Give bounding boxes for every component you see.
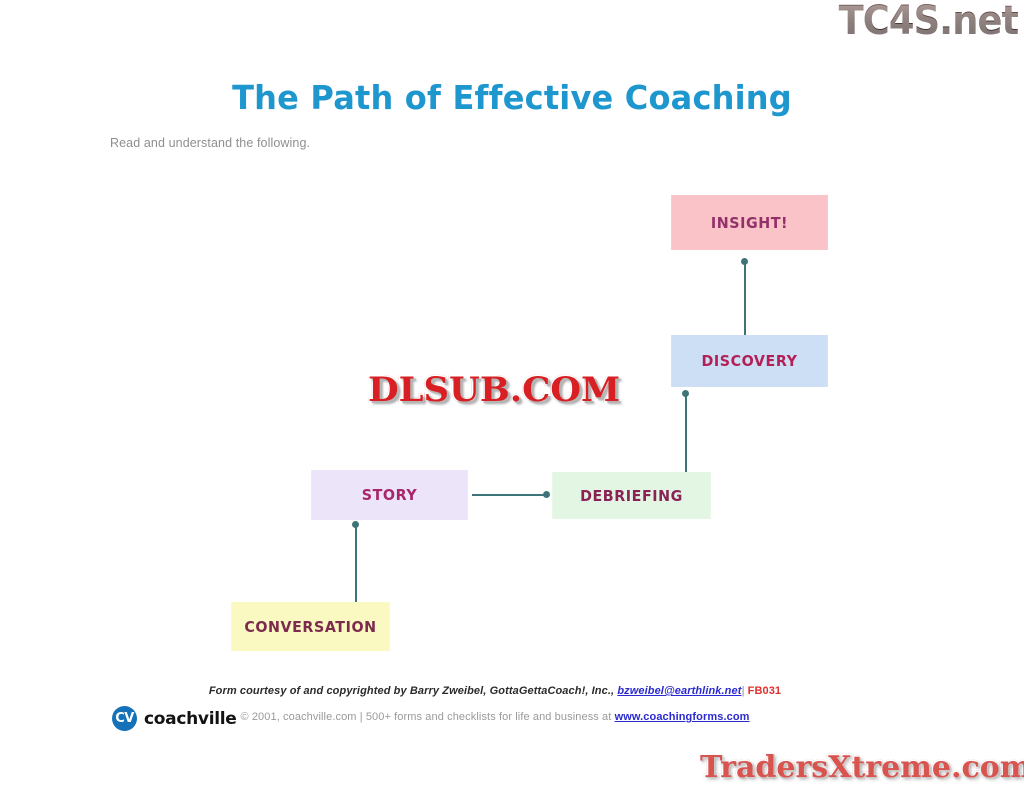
watermark-middle-text: DLSUB.COM	[368, 370, 620, 410]
page-canvas: TC4S.net The Path of Effective Coaching …	[0, 0, 1024, 791]
flow-node-insight: INSIGHT!	[671, 195, 828, 250]
instruction-text: Read and understand the following.	[110, 136, 310, 150]
footer-credit-prefix: Form courtesy of and copyrighted by Barr…	[209, 685, 617, 697]
footer-copyright-prefix: © 2001, coachville.com | 500+ forms and …	[240, 711, 614, 723]
connector-dot-debriefing-to-discovery	[682, 390, 689, 397]
watermark-middle: DLSUB.COM	[368, 370, 620, 410]
watermark-bottom-right: TradersXtreme.com	[700, 750, 1024, 785]
footer-form-code: FB031	[748, 685, 782, 697]
coachville-logo-icon: CV	[112, 706, 137, 731]
page-title: The Path of Effective Coaching	[15, 78, 1008, 117]
connector-dot-story-to-debriefing	[543, 491, 550, 498]
watermark-bottom-right-text: TradersXtreme.com	[700, 750, 1024, 785]
connector-debriefing-to-discovery	[685, 393, 687, 472]
footer-email-link[interactable]: bzweibel@earthlink.net	[617, 685, 741, 697]
flow-node-discovery: DISCOVERY	[671, 335, 828, 387]
connector-dot-discovery-to-insight	[741, 258, 748, 265]
flow-node-conversation: CONVERSATION	[231, 602, 390, 651]
coachville-logo-text: coachville	[144, 709, 237, 729]
footer-separator: |	[742, 685, 745, 697]
connector-story-to-debriefing	[472, 494, 549, 496]
connector-dot-conversation-to-story	[352, 521, 359, 528]
flow-node-debriefing: DEBRIEFING	[552, 472, 711, 519]
flow-node-story: STORY	[311, 470, 468, 520]
watermark-top-right: TC4S.net	[838, 0, 1018, 44]
connector-discovery-to-insight	[744, 261, 746, 335]
connector-conversation-to-story	[355, 524, 357, 603]
coachville-logo[interactable]: CV coachville	[112, 706, 237, 731]
footer-credit-line: Form courtesy of and copyrighted by Barr…	[0, 685, 990, 697]
footer-coachingforms-link[interactable]: www.coachingforms.com	[615, 711, 750, 723]
